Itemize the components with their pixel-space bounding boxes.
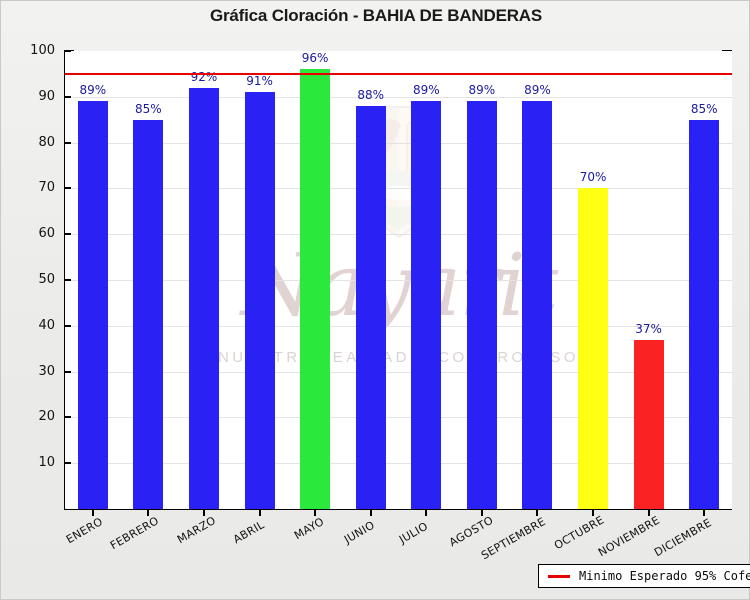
x-axis-tick-label: MARZO	[175, 513, 218, 545]
y-axis-tick-label: 30	[15, 364, 55, 379]
bar-value-label: 88%	[341, 88, 401, 102]
y-axis-tick-label: 10	[15, 455, 55, 470]
bar-value-label: 37%	[619, 322, 679, 336]
x-axis-tick-label: DICIEMBRE	[652, 516, 714, 559]
chart-title: Gráfica Cloración - BAHIA DE BANDERAS	[1, 6, 750, 26]
y-axis-tick-mark	[64, 462, 71, 464]
gridline	[65, 417, 732, 418]
bar-julio[interactable]	[411, 101, 441, 509]
x-axis-tick-label: AGOSTO	[447, 513, 496, 549]
x-axis-tick-mark	[370, 509, 372, 516]
x-axis-tick-label: JUNIO	[342, 518, 377, 546]
reference-line-95	[65, 73, 732, 75]
x-axis-tick-label: MAYO	[292, 515, 326, 542]
y-axis-tick-label: 90	[15, 89, 55, 104]
x-axis-tick-mark	[481, 509, 483, 516]
x-axis-tick-mark	[536, 509, 538, 516]
bar-mayo[interactable]	[300, 69, 330, 509]
bar-septiembre[interactable]	[522, 101, 552, 509]
bar-value-label: 92%	[174, 70, 234, 84]
y-axis-tick-mark	[64, 325, 71, 327]
x-axis-tick-mark	[648, 509, 650, 516]
bar-agosto[interactable]	[467, 101, 497, 509]
bar-value-label: 85%	[674, 102, 734, 116]
y-axis-tick-label: 80	[15, 135, 55, 150]
x-axis-tick-mark	[314, 509, 316, 516]
bar-junio[interactable]	[356, 106, 386, 509]
chart-figure: Gráfica Cloración - BAHIA DE BANDERAS Na…	[0, 0, 750, 600]
bar-febrero[interactable]	[133, 120, 163, 509]
y-axis-tick-label: 40	[15, 318, 55, 333]
x-axis-tick-mark	[147, 509, 149, 516]
bar-value-label: 85%	[118, 102, 178, 116]
bar-enero[interactable]	[78, 101, 108, 509]
x-axis-tick-mark	[259, 509, 261, 516]
gridline	[65, 372, 732, 373]
x-axis-tick-label: JULIO	[397, 519, 430, 546]
y-axis-tick-mark	[64, 50, 71, 52]
bar-value-label: 96%	[285, 51, 345, 65]
gridline	[65, 280, 732, 281]
x-axis-tick-mark	[592, 509, 594, 516]
y-axis-tick-mark	[64, 416, 71, 418]
y-axis-tick-label: 100	[15, 43, 55, 58]
y-axis-tick-label: 50	[15, 272, 55, 287]
gridline	[65, 463, 732, 464]
y-axis-tick-mark	[64, 233, 71, 235]
bar-value-label: 91%	[230, 74, 290, 88]
bar-value-label: 70%	[563, 170, 623, 184]
x-axis-tick-label: FEBRERO	[108, 514, 161, 552]
y-axis-tick-mark	[64, 371, 71, 373]
x-axis-tick-mark	[203, 509, 205, 516]
bar-value-label: 89%	[63, 83, 123, 97]
y-axis-tick-mark	[64, 96, 71, 98]
x-axis-tick-mark	[703, 509, 705, 516]
x-axis-tick-mark	[425, 509, 427, 516]
bar-noviembre[interactable]	[634, 340, 664, 509]
bar-value-label: 89%	[396, 83, 456, 97]
x-axis-tick-label: ABRIL	[231, 518, 267, 546]
chart-legend: Minimo Esperado 95% Cofepris	[538, 564, 750, 588]
legend-swatch-reference-line	[548, 575, 570, 578]
gridline	[65, 234, 732, 235]
y-axis-tick-mark	[64, 142, 71, 144]
gridline	[65, 143, 732, 144]
x-axis-tick-label: NOVIEMBRE	[596, 513, 662, 559]
bar-value-label: 89%	[507, 83, 567, 97]
legend-label-reference-line: Minimo Esperado 95% Cofepris	[579, 569, 750, 583]
bar-value-label: 89%	[452, 83, 512, 97]
bar-marzo[interactable]	[189, 88, 219, 509]
watermark-script-text: Nayarit	[241, 236, 557, 336]
y-axis-tick-mark	[64, 187, 71, 189]
gridline	[65, 188, 732, 189]
plot-area: Nayarit NUESTRA LEALTAD Y COMPROMISO 89%…	[65, 51, 732, 509]
bar-diciembre[interactable]	[689, 120, 719, 509]
bar-octubre[interactable]	[578, 188, 608, 509]
y-axis-tick-label: 60	[15, 226, 55, 241]
y-axis-tick-label: 70	[15, 180, 55, 195]
y-axis-tick-mark	[64, 279, 71, 281]
y-axis-tick-label: 20	[15, 409, 55, 424]
bar-abril[interactable]	[245, 92, 275, 509]
x-axis-tick-mark	[92, 509, 94, 516]
x-axis-tick-label: ENERO	[64, 515, 105, 546]
